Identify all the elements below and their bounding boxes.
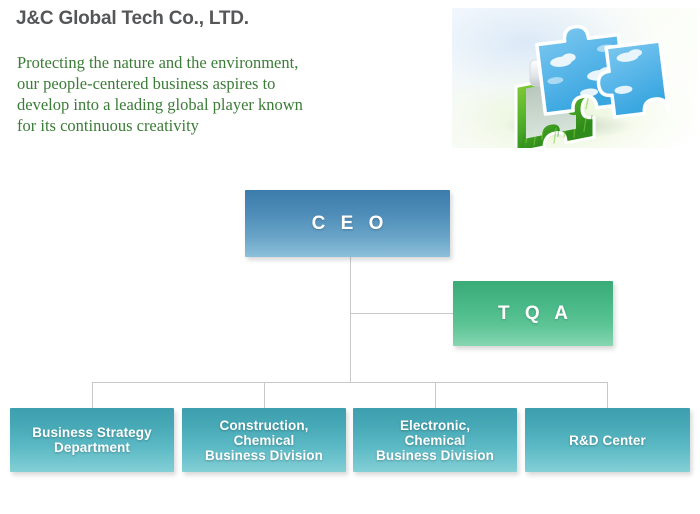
org-node-label: R&D Center [569, 433, 646, 448]
connector-drop-0 [92, 382, 93, 408]
org-node-label: Construction, Chemical Business Division [205, 418, 323, 463]
org-node-ceo[interactable]: C E O [245, 190, 450, 257]
connector-division-bus [92, 382, 607, 383]
org-node-label: Electronic, Chemical Business Division [376, 418, 494, 463]
org-node-tqa-label: T Q A [493, 303, 573, 325]
connector-drop-3 [607, 382, 608, 408]
org-node-construction-chemical-business-division[interactable]: Construction, Chemical Business Division [182, 408, 346, 472]
connector-ceo-trunk [350, 257, 351, 383]
org-node-ceo-label: C E O [307, 213, 389, 235]
org-node-rnd-center[interactable]: R&D Center [525, 408, 690, 472]
org-node-label: Business Strategy Department [32, 425, 152, 455]
org-node-business-strategy-department[interactable]: Business Strategy Department [10, 408, 174, 472]
connector-drop-2 [435, 382, 436, 408]
org-node-electronic-chemical-business-division[interactable]: Electronic, Chemical Business Division [353, 408, 517, 472]
org-node-tqa[interactable]: T Q A [453, 281, 613, 346]
connector-ceo-to-tqa [350, 313, 454, 314]
connector-drop-1 [264, 382, 265, 408]
org-chart: C E O T Q A Business Strategy Department… [0, 0, 700, 514]
